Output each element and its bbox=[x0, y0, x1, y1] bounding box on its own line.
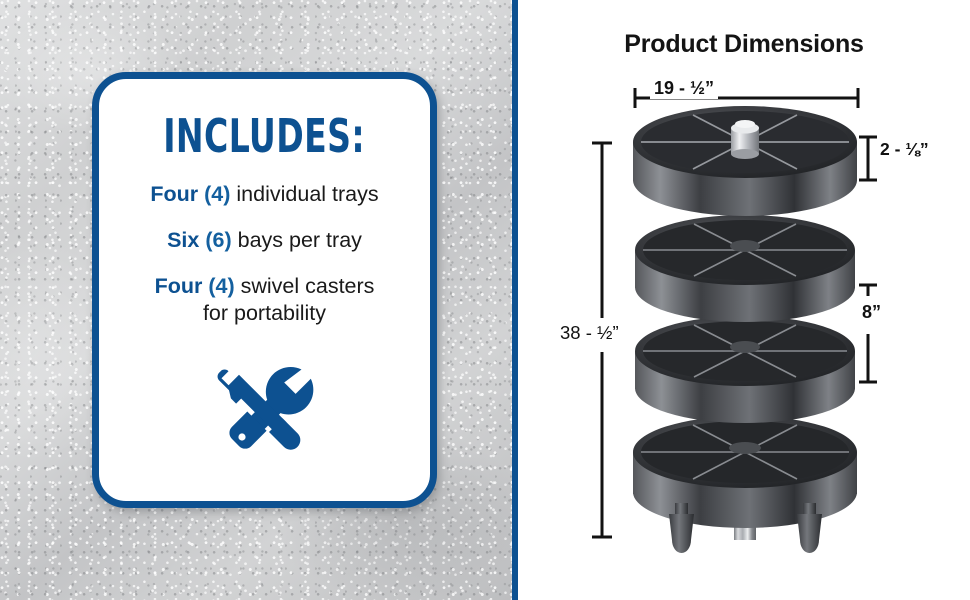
bullet-count: (6) bbox=[205, 228, 231, 252]
list-item: Four (4) swivel casters for portability bbox=[115, 273, 415, 325]
bullet-highlight: Four bbox=[155, 274, 203, 298]
list-item: Six (6) bays per tray bbox=[115, 227, 415, 253]
list-item: Four (4) individual trays bbox=[115, 181, 415, 207]
bullet-text: bays per tray bbox=[238, 228, 362, 252]
dimension-line-tray-spacing bbox=[859, 285, 877, 382]
chrome-center-post bbox=[731, 120, 759, 159]
dimension-label-tray-spacing: 8” bbox=[858, 302, 885, 323]
dimension-label-tray-height: 2 - ⅛” bbox=[876, 139, 933, 160]
tray-third bbox=[635, 316, 855, 423]
dimension-line-tray-height bbox=[859, 137, 877, 180]
dimension-label-width: 19 - ½” bbox=[650, 78, 718, 99]
bullet-count: (4) bbox=[204, 182, 230, 206]
includes-card: INCLUDES: Four (4) individual trays Six … bbox=[92, 72, 437, 508]
bullet-text: individual trays bbox=[236, 182, 378, 206]
bullet-text-second-line: for portability bbox=[115, 300, 415, 326]
includes-card-title: INCLUDES: bbox=[164, 109, 366, 163]
bullet-highlight: Six bbox=[167, 228, 199, 252]
dimension-label-total-height: 38 - ½” bbox=[556, 322, 623, 344]
right-panel-dimensions: Product Dimensions bbox=[518, 0, 970, 600]
bullet-highlight: Four bbox=[150, 182, 198, 206]
tray-bottom bbox=[633, 416, 857, 528]
product-illustration bbox=[518, 0, 970, 600]
wrench-screwdriver-icon bbox=[206, 352, 324, 475]
bullet-count: (4) bbox=[208, 274, 234, 298]
tray-second bbox=[635, 215, 855, 322]
includes-bullet-list: Four (4) individual trays Six (6) bays p… bbox=[99, 181, 430, 326]
infographic-canvas: INCLUDES: Four (4) individual trays Six … bbox=[0, 0, 970, 600]
bullet-text: swivel casters bbox=[241, 274, 375, 298]
